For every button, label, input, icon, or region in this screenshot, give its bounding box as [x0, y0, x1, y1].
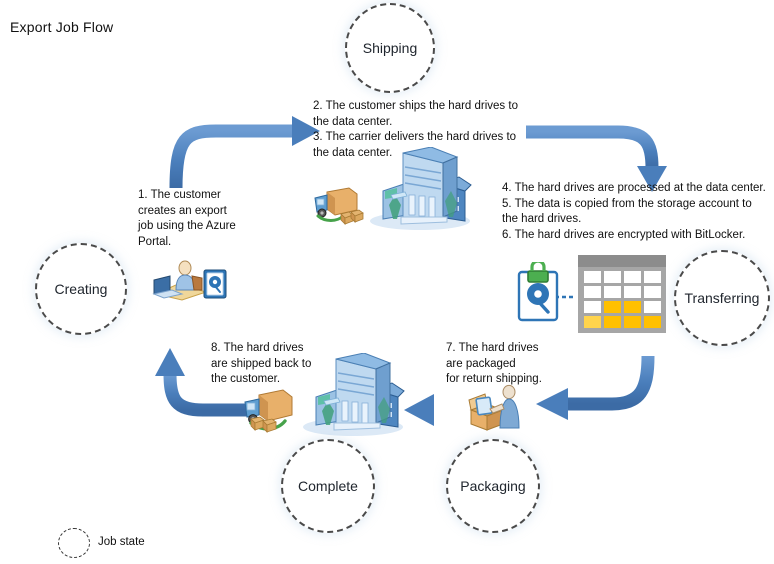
legend-job-state-icon	[58, 528, 90, 558]
arrow-creating-to-shipping	[176, 116, 320, 188]
step-text-2-3: 2. The customer ships the hard drives to…	[313, 99, 545, 161]
state-label-creating: Creating	[55, 281, 108, 297]
state-circle-complete[interactable]: Complete	[281, 439, 375, 533]
step-text-1: 1. The customer creates an export job us…	[138, 188, 252, 250]
step-text-7: 7. The hard drives are packaged for retu…	[446, 341, 570, 388]
step-text-4-6: 4. The hard drives are processed at the …	[502, 181, 774, 243]
encrypted-hard-drive-icon	[516, 262, 560, 322]
storage-table-icon	[578, 255, 666, 333]
hard-drive-icon	[203, 269, 227, 299]
state-circle-creating[interactable]: Creating	[35, 243, 127, 335]
user-at-computer-icon	[152, 254, 208, 302]
legend-job-state-label: Job state	[98, 536, 145, 548]
step-text-8: 8. The hard drives are shipped back to t…	[211, 341, 335, 388]
state-label-complete: Complete	[298, 478, 358, 494]
shipping-truck-icon	[313, 182, 369, 226]
state-label-transferring: Transferring	[685, 290, 760, 306]
state-circle-shipping[interactable]: Shipping	[345, 3, 435, 93]
state-circle-packaging[interactable]: Packaging	[446, 439, 540, 533]
state-label-shipping: Shipping	[363, 40, 418, 56]
state-circle-transferring[interactable]: Transferring	[674, 250, 770, 346]
page-title: Export Job Flow	[10, 19, 113, 35]
shipping-truck-icon	[243, 385, 305, 435]
packaging-worker-icon	[463, 382, 525, 434]
state-label-packaging: Packaging	[460, 478, 525, 494]
arrow-packaging-to-complete	[404, 394, 462, 426]
